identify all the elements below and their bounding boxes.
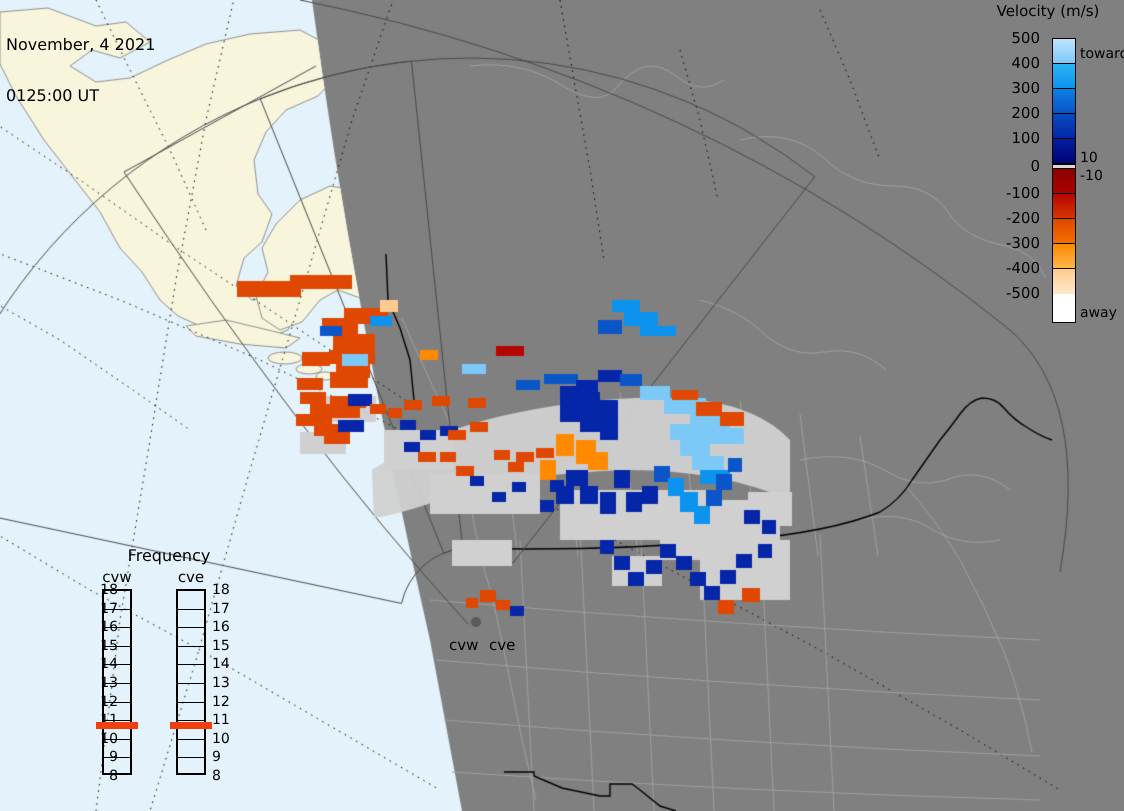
frequency-cell bbox=[178, 610, 204, 629]
colorbar-tick-neg100: -100 bbox=[1006, 184, 1040, 202]
colorbar-gradient bbox=[1052, 38, 1076, 323]
frequency-column-label-cve: cve bbox=[164, 568, 218, 586]
frequency-tick-8: 8 bbox=[96, 768, 118, 784]
colorbar-segment-away--300 bbox=[1053, 219, 1075, 244]
frequency-tick-10: 10 bbox=[212, 731, 234, 747]
frequency-tick-18: 18 bbox=[96, 582, 118, 598]
colorbar-tick-neg200: -200 bbox=[1006, 209, 1040, 227]
colorbar-segment-toward-200 bbox=[1053, 114, 1075, 139]
frequency-marker-cvw bbox=[96, 722, 138, 729]
colorbar-segment-away--500 bbox=[1053, 269, 1075, 294]
frequency-tick-14: 14 bbox=[212, 656, 234, 672]
colorbar-title: Velocity (m/s) bbox=[978, 2, 1118, 20]
frequency-tick-11: 11 bbox=[212, 712, 234, 728]
colorbar-tick-neg500: -500 bbox=[1006, 284, 1040, 302]
frequency-tick-15: 15 bbox=[96, 638, 118, 654]
frequency-tick-10: 10 bbox=[96, 731, 118, 747]
colorbar-segment-toward-300 bbox=[1053, 89, 1075, 114]
plot-time: 0125:00 UT bbox=[6, 87, 155, 104]
frequency-tick-9: 9 bbox=[96, 749, 118, 765]
colorbar-tick-100: 100 bbox=[1011, 129, 1040, 147]
frequency-tick-14: 14 bbox=[96, 656, 118, 672]
colorbar-segment-toward-100 bbox=[1053, 139, 1075, 164]
colorbar-segment-away--100 bbox=[1053, 169, 1075, 194]
frequency-tick-16: 16 bbox=[96, 619, 118, 635]
plot-timestamp: November, 4 2021 0125:00 UT bbox=[6, 2, 155, 138]
frequency-cell bbox=[178, 740, 204, 759]
colorbar-segment-away--200 bbox=[1053, 194, 1075, 219]
frequency-tick-18: 18 bbox=[212, 582, 234, 598]
colorbar-tick-200: 200 bbox=[1011, 104, 1040, 122]
colorbar-away-label: away bbox=[1080, 305, 1117, 321]
frequency-cell bbox=[178, 628, 204, 647]
frequency-legend-title: Frequency bbox=[84, 546, 254, 565]
frequency-cell bbox=[178, 647, 204, 666]
frequency-marker-cve bbox=[170, 722, 212, 729]
frequency-cell bbox=[178, 665, 204, 684]
colorbar-tick-neg300: -300 bbox=[1006, 234, 1040, 252]
frequency-tick-16: 16 bbox=[212, 619, 234, 635]
colorbar-toward-label: toward bbox=[1080, 46, 1124, 62]
frequency-tick-12: 12 bbox=[212, 694, 234, 710]
frequency-tick-17: 17 bbox=[212, 601, 234, 617]
frequency-tick-17: 17 bbox=[96, 601, 118, 617]
frequency-cell bbox=[178, 758, 204, 777]
radar-site-label-cve: cve bbox=[489, 636, 515, 654]
frequency-cell bbox=[178, 703, 204, 722]
colorbar-tick-500: 500 bbox=[1011, 29, 1040, 47]
frequency-tick-13: 13 bbox=[96, 675, 118, 691]
frequency-tick-12: 12 bbox=[96, 694, 118, 710]
frequency-cell bbox=[178, 684, 204, 703]
colorbar-tick-neg400: -400 bbox=[1006, 259, 1040, 277]
colorbar-pos-threshold-label: 10 bbox=[1080, 150, 1098, 166]
frequency-tick-15: 15 bbox=[212, 638, 234, 654]
colorbar-segment-toward-500 bbox=[1053, 39, 1075, 64]
colorbar-tick-300: 300 bbox=[1011, 79, 1040, 97]
frequency-tick-13: 13 bbox=[212, 675, 234, 691]
frequency-tick-8: 8 bbox=[212, 768, 234, 784]
colorbar-neg-threshold-label: -10 bbox=[1080, 168, 1103, 184]
radar-site-label-cvw: cvw bbox=[449, 636, 478, 654]
frequency-legend: Frequency cvw18171615141312111098cve1817… bbox=[84, 546, 254, 796]
colorbar-segment-toward-400 bbox=[1053, 64, 1075, 89]
colorbar-tick-0: 0 bbox=[1030, 157, 1040, 175]
frequency-cell bbox=[178, 591, 204, 610]
plot-date: November, 4 2021 bbox=[6, 36, 155, 53]
frequency-bar-cve bbox=[176, 589, 206, 775]
velocity-colorbar: Velocity (m/s) 5004003002001000-100-200-… bbox=[968, 0, 1124, 340]
colorbar-segment-away--400 bbox=[1053, 244, 1075, 269]
frequency-tick-9: 9 bbox=[212, 749, 234, 765]
superdarn-fan-plot: November, 4 2021 0125:00 UT Velocity (m/… bbox=[0, 0, 1124, 811]
colorbar-tick-400: 400 bbox=[1011, 54, 1040, 72]
